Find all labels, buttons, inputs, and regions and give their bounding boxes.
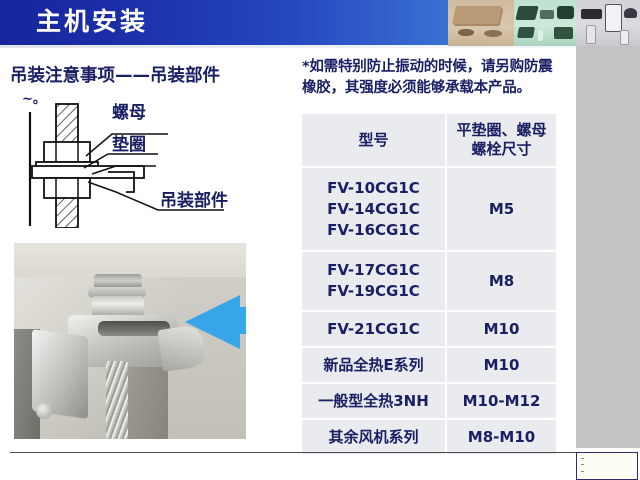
section-subtitle: 吊装注意事项——吊装部件 — [10, 62, 220, 87]
footer-note-box — [576, 452, 638, 480]
footer-note-line — [581, 471, 584, 472]
panel-shape — [620, 30, 629, 45]
column-header-size: 平垫圈、螺母 螺栓尺寸 — [446, 113, 557, 167]
cell-size: M10 — [446, 311, 557, 347]
panel-shape — [624, 8, 637, 18]
cell-size: M5 — [446, 167, 557, 251]
table-row: FV-21CG1C M10 — [301, 311, 557, 347]
ceiling-surface — [14, 243, 246, 277]
green-product-photo — [514, 0, 576, 46]
diagram-label-hanger-part: 吊装部件 — [160, 190, 228, 211]
cell-model: FV-21CG1C — [301, 311, 446, 347]
diagram-label-nut: 螺母 — [112, 103, 146, 123]
table-header-row: 型号 平垫圈、螺母 螺栓尺寸 — [301, 113, 557, 167]
panel-shape — [605, 4, 622, 32]
duct-unit-shape — [452, 6, 502, 24]
fan-unit-shape — [538, 30, 543, 41]
panel-shape — [586, 25, 596, 44]
fan-unit-shape — [515, 6, 538, 20]
footer-divider — [10, 452, 630, 453]
cell-model: 其余风机系列 — [301, 419, 446, 455]
diagram-label-washer: 垫圈 — [112, 134, 146, 155]
bolt-size-table: 型号 平垫圈、螺母 螺栓尺寸 FV-10CG1C FV-14CG1C FV-16… — [300, 112, 558, 456]
nut-lower — [44, 178, 90, 198]
screw-head — [36, 403, 52, 419]
fan-unit-shape — [557, 6, 574, 19]
panel-shape — [581, 9, 602, 19]
left-pointing-arrow-tail — [240, 307, 246, 334]
cell-size: M10-M12 — [446, 383, 557, 419]
fan-unit-shape — [554, 27, 573, 39]
cell-size: M8-M10 — [446, 419, 557, 455]
right-gray-panel — [576, 46, 640, 448]
table-row: FV-10CG1C FV-14CG1C FV-16CG1C M5 — [301, 167, 557, 251]
cell-model: 一般型全热3NH — [301, 383, 446, 419]
vibration-note: *如需特别防止振动的时候，请另购防震橡胶，其强度必须能够承载本产品。 — [302, 57, 564, 99]
cell-model: FV-17CG1C FV-19CG1C — [301, 251, 446, 311]
accessory-shape — [458, 29, 474, 36]
nut-upper — [44, 142, 90, 162]
gray-product-photo — [576, 0, 640, 46]
accessory-shape — [484, 30, 502, 37]
product-photo-strip — [448, 0, 640, 46]
footer-note-line — [581, 458, 584, 459]
table-row: 一般型全热3NH M10-M12 — [301, 383, 557, 419]
cell-size: M10 — [446, 347, 557, 383]
table-row: 其余风机系列 M8-M10 — [301, 419, 557, 455]
left-pointing-arrow-icon — [185, 295, 240, 349]
column-header-model: 型号 — [301, 113, 446, 167]
beam-clamp-photo — [14, 243, 246, 439]
beige-product-photo — [448, 0, 514, 46]
fan-unit-shape — [517, 27, 535, 38]
page-title: 主机安装 — [36, 7, 148, 37]
table-row: 新品全热E系列 M10 — [301, 347, 557, 383]
cell-size: M8 — [446, 251, 557, 311]
hanger-assembly-diagram: 螺母 垫圈 吊装部件 — [8, 96, 280, 228]
table-row: FV-17CG1C FV-19CG1C M8 — [301, 251, 557, 311]
slide-canvas: 主机安装 吊装注意事项——吊装部件 ~。 — [0, 0, 640, 480]
cell-model: FV-10CG1C FV-14CG1C FV-16CG1C — [301, 167, 446, 251]
cell-model: 新品全热E系列 — [301, 347, 446, 383]
fan-unit-shape — [540, 10, 554, 19]
footer-note-line — [581, 464, 584, 465]
threaded-rod — [106, 361, 128, 439]
